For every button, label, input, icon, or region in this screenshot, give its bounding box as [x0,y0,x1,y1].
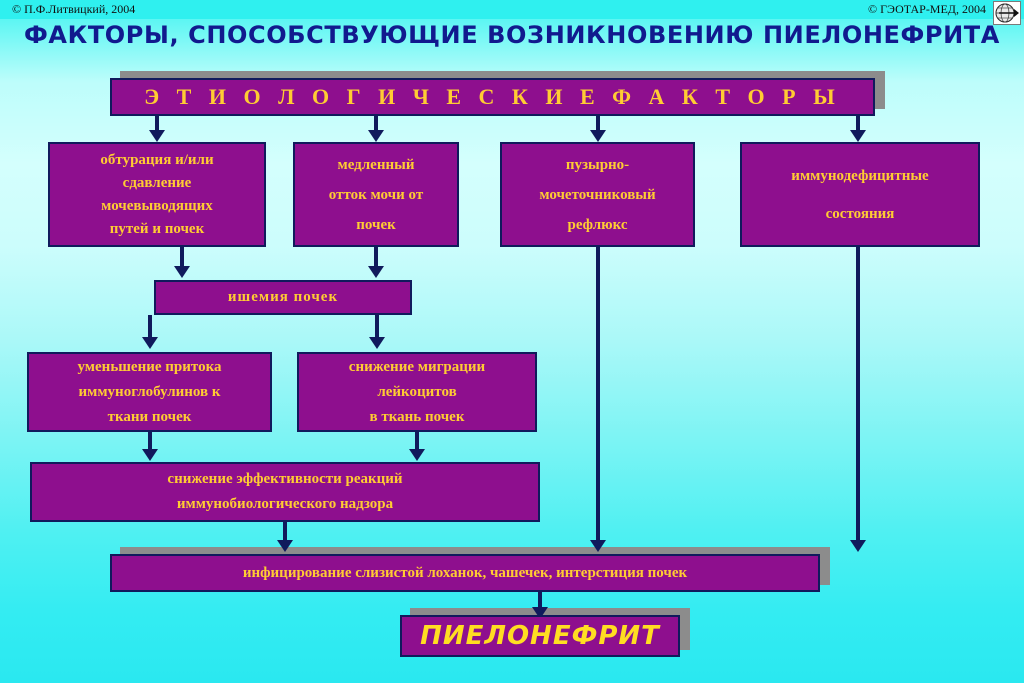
arrowhead-header-to-f1 [149,130,165,142]
text-line: снижение миграции [307,355,527,380]
factor-box-slow-urine-outflow-label: медленный отток мочи от почек [295,150,457,240]
arrowhead-header-to-f3 [590,130,606,142]
text-line: путей и почек [58,218,256,241]
arrowhead-f4-to-infection [850,540,866,552]
text-line: иммуноглобулинов к [37,380,262,405]
factor-box-vesicoureteral-reflux-label: пузырно- мочеточниковый рефлюкс [502,150,693,240]
text-line: иммунодефицитные [750,157,970,195]
arrowhead-ig-to-surveillance [142,449,158,461]
infection-box: инфицирование слизистой лоханок, чашечек… [110,554,820,592]
connector-infection-to-result [538,592,542,608]
copyright-publisher: © ГЭОТАР-МЕД, 2004 [868,2,986,17]
text-line: мочеточниковый [510,180,685,210]
connector-f2-to-ischemia [374,247,378,268]
immunoglobulin-inflow-box: уменьшение притока иммуноглобулинов к тк… [27,352,272,432]
connector-f4-to-infection [856,247,860,540]
arrowhead-f2-to-ischemia [368,266,384,278]
immunobiological-surveillance-label: снижение эффективности реакций иммунобио… [32,467,538,517]
leukocyte-migration-box: снижение миграции лейкоцитов в ткань поч… [297,352,537,432]
copyright-author: © П.Ф.Литвицкий, 2004 [12,2,135,17]
slide-canvas: © П.Ф.Литвицкий, 2004 © ГЭОТАР-МЕД, 2004… [0,0,1024,683]
factor-box-immunodeficiency: иммунодефицитные состояния [740,142,980,247]
arrowhead-header-to-f2 [368,130,384,142]
ischemia-label: ишемия почек [156,289,410,306]
connector-ischemia-to-leukocytes [375,315,379,338]
connector-leukocytes-to-surveillance [415,432,419,450]
immunobiological-surveillance-box: снижение эффективности реакций иммунобио… [30,462,540,522]
text-line: иммунобиологического надзора [40,492,530,517]
connector-surveillance-to-infection [283,522,287,540]
immunoglobulin-inflow-label: уменьшение притока иммуноглобулинов к тк… [29,355,270,430]
text-line: снижение эффективности реакций [40,467,530,492]
text-line: ткани почек [37,405,262,430]
page-title: ФАКТОРЫ, СПОСОБСТВУЮЩИЕ ВОЗНИКНОВЕНИЮ ПИ… [0,21,1024,49]
text-line: состояния [750,195,970,233]
factor-box-vesicoureteral-reflux: пузырно- мочеточниковый рефлюкс [500,142,695,247]
result-box-pyelonephritis: ПИЕЛОНЕФРИТ [400,615,680,657]
connector-ig-to-surveillance [148,432,152,450]
text-line: рефлюкс [510,210,685,240]
arrowhead-ischemia-to-leukocytes [369,337,385,349]
text-line: уменьшение притока [37,355,262,380]
etiological-factors-header: Э Т И О Л О Г И Ч Е С К И Е Ф А К Т О Р … [110,78,875,116]
text-line: почек [303,210,449,240]
connector-f1-to-ischemia [180,247,184,268]
arrowhead-surveillance-to-infection [277,540,293,552]
leukocyte-migration-label: снижение миграции лейкоцитов в ткань поч… [299,355,535,430]
text-line: мочевыводящих [58,195,256,218]
text-line: обтурация и/или [58,149,256,172]
infection-label: инфицирование слизистой лоханок, чашечек… [112,565,818,582]
factor-box-immunodeficiency-label: иммунодефицитные состояния [742,157,978,233]
result-label: ПИЕЛОНЕФРИТ [402,621,678,651]
text-line: отток мочи от [303,180,449,210]
arrowhead-ischemia-to-ig [142,337,158,349]
text-line: лейкоцитов [307,380,527,405]
factor-box-obstruction: обтурация и/или сдавление мочевыводящих … [48,142,266,247]
text-line: пузырно- [510,150,685,180]
connector-f3-to-infection [596,247,600,540]
text-line: медленный [303,150,449,180]
factor-box-obstruction-label: обтурация и/или сдавление мочевыводящих … [50,149,264,241]
connector-ischemia-to-ig [148,315,152,338]
arrowhead-f1-to-ischemia [174,266,190,278]
ischemia-box: ишемия почек [154,280,412,315]
text-line: сдавление [58,172,256,195]
factor-box-slow-urine-outflow: медленный отток мочи от почек [293,142,459,247]
arrowhead-f3-to-infection [590,540,606,552]
arrowhead-leukocytes-to-surveillance [409,449,425,461]
arrowhead-header-to-f4 [850,130,866,142]
etiological-factors-label: Э Т И О Л О Г И Ч Е С К И Е Ф А К Т О Р … [112,84,873,110]
text-line: в ткань почек [307,405,527,430]
